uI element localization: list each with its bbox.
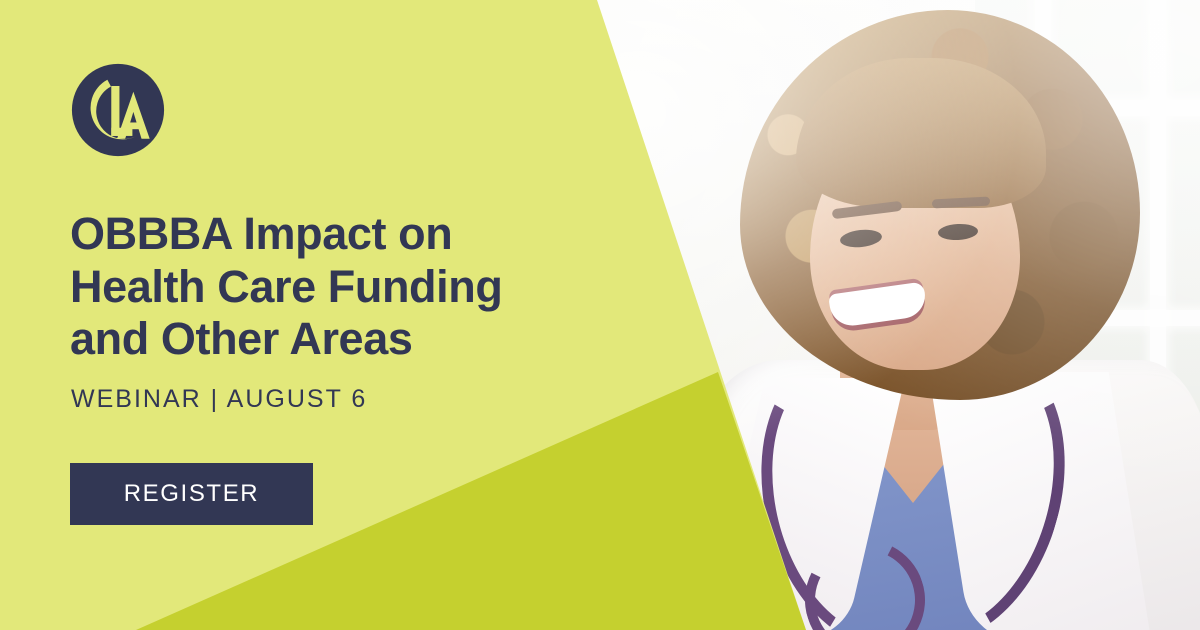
page-title: OBBBA Impact on Health Care Funding and … (70, 208, 590, 366)
promo-content: OBBBA Impact on Health Care Funding and … (0, 0, 600, 630)
webinar-promo-banner: OBBBA Impact on Health Care Funding and … (0, 0, 1200, 630)
register-button[interactable]: REGISTER (70, 463, 313, 525)
cla-logo[interactable] (70, 62, 166, 158)
event-meta: WEBINAR | AUGUST 6 (71, 385, 367, 414)
